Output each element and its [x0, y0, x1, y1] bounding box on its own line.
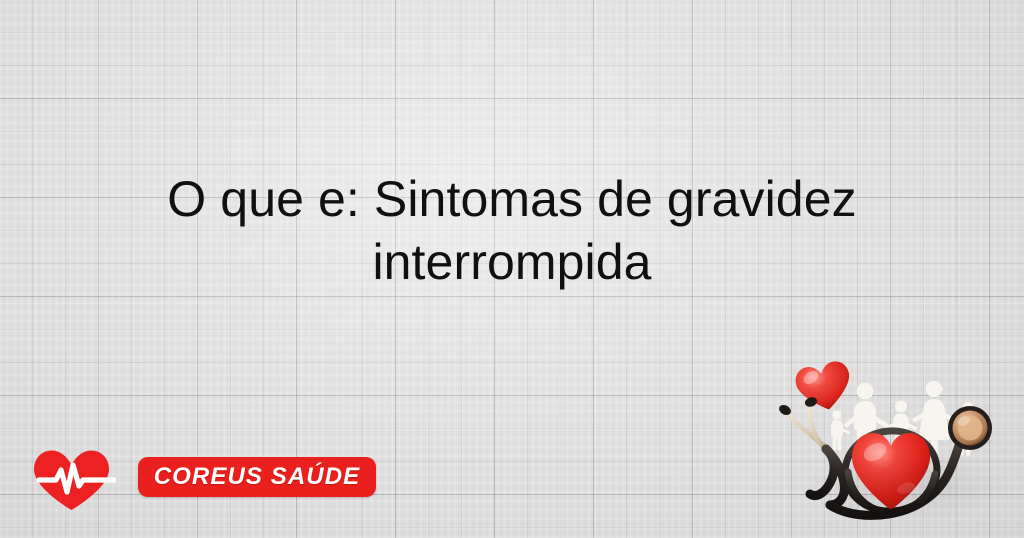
title-line-1: O que e: Sintomas de gravidez: [50, 168, 974, 231]
brand-name-label: COREUS SAÚDE: [154, 463, 361, 491]
title-line-2: interrompida: [50, 231, 974, 294]
health-illustration: [778, 352, 1024, 538]
slide-canvas: O que e: Sintomas de gravidez interrompi…: [0, 0, 1024, 538]
small-heart-icon: [793, 359, 855, 415]
heart-pulse-icon: [30, 448, 116, 512]
page-title: O que e: Sintomas de gravidez interrompi…: [50, 168, 974, 294]
stethoscope-chestpiece-icon: [948, 406, 992, 450]
brand-logo[interactable]: COREUS SAÚDE: [30, 448, 350, 514]
brand-name-banner: COREUS SAÚDE: [138, 457, 376, 497]
